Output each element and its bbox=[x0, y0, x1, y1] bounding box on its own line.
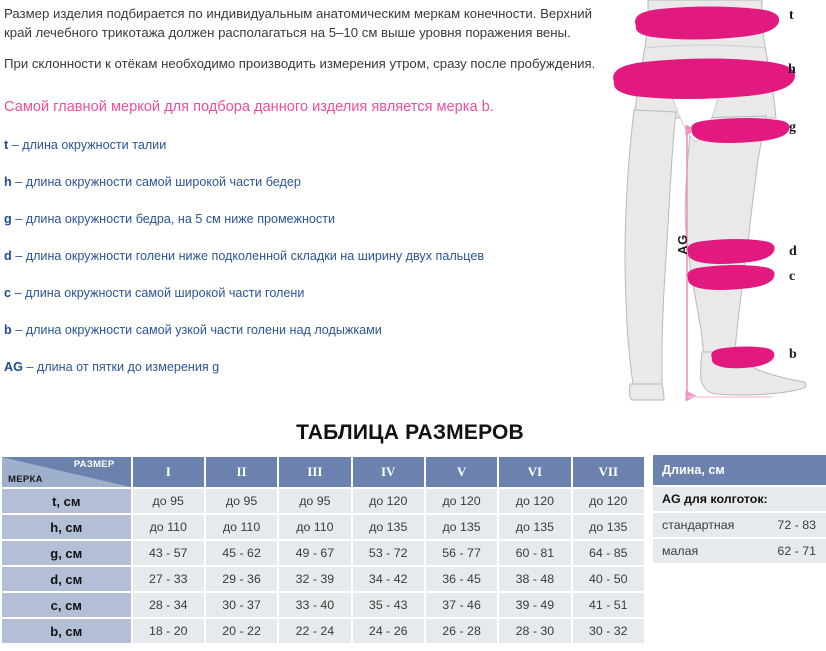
size-header-7: VII bbox=[573, 457, 644, 487]
definition-text-b: длина окружности самой узкой части голен… bbox=[26, 323, 382, 337]
cell-g-2: 45 - 62 bbox=[206, 541, 277, 565]
table-row: b, см 18 - 20 20 - 22 22 - 24 24 - 26 26… bbox=[2, 619, 644, 643]
table-row: t, см до 95 до 95 до 95 до 120 до 120 до… bbox=[2, 489, 644, 513]
size-table-title: ТАБЛИЦА РАЗМЕРОВ bbox=[0, 421, 820, 445]
figure-label-d: d bbox=[789, 244, 797, 260]
cell-h-7: до 135 bbox=[573, 515, 644, 539]
cell-d-3: 32 - 39 bbox=[279, 567, 350, 591]
definition-dash-c: – bbox=[15, 286, 22, 300]
marker-h bbox=[613, 59, 795, 100]
table-row: h, см до 110 до 110 до 110 до 135 до 135… bbox=[2, 515, 644, 539]
corner-measure-label: МЕРКА bbox=[8, 474, 43, 485]
cell-c-4: 35 - 43 bbox=[353, 593, 424, 617]
definition-text-c: длина окружности самой широкой части гол… bbox=[25, 286, 304, 300]
definition-dash-g: – bbox=[15, 212, 22, 226]
row-label-d: d, см bbox=[2, 567, 131, 591]
length-value-standard: 72 - 83 bbox=[777, 518, 816, 532]
definition-text-ag: длина от пятки до измерения g bbox=[37, 360, 219, 374]
cell-h-4: до 135 bbox=[353, 515, 424, 539]
cell-t-2: до 95 bbox=[206, 489, 277, 513]
definition-dash-ag: – bbox=[26, 360, 33, 374]
cell-h-5: до 135 bbox=[426, 515, 497, 539]
marker-g bbox=[691, 118, 789, 143]
cell-t-4: до 120 bbox=[353, 489, 424, 513]
marker-c bbox=[687, 265, 774, 290]
table-row: d, см 27 - 33 29 - 36 32 - 39 34 - 42 36… bbox=[2, 567, 644, 591]
size-table: РАЗМЕР МЕРКА I II III IV V VI VII t, см … bbox=[0, 455, 646, 645]
definition-dash-b: – bbox=[15, 323, 22, 337]
cell-c-2: 30 - 37 bbox=[206, 593, 277, 617]
cell-g-7: 64 - 85 bbox=[573, 541, 644, 565]
table-row: c, см 28 - 34 30 - 37 33 - 40 35 - 43 37… bbox=[2, 593, 644, 617]
row-label-t: t, см bbox=[2, 489, 131, 513]
size-header-2: II bbox=[206, 457, 277, 487]
size-header-5: V bbox=[426, 457, 497, 487]
cell-t-3: до 95 bbox=[279, 489, 350, 513]
definition-item-ag: AG – длина от пятки до измерения g bbox=[4, 359, 612, 375]
figure-label-c: c bbox=[789, 269, 795, 285]
cell-c-1: 28 - 34 bbox=[133, 593, 204, 617]
cell-b-5: 26 - 28 bbox=[426, 619, 497, 643]
marker-b bbox=[711, 347, 774, 369]
cell-d-2: 29 - 36 bbox=[206, 567, 277, 591]
cell-d-6: 38 - 48 bbox=[499, 567, 570, 591]
definition-key-b: b bbox=[4, 323, 12, 337]
cell-b-7: 30 - 32 bbox=[573, 619, 644, 643]
length-row-standard: стандартная 72 - 83 bbox=[653, 513, 826, 537]
cell-d-1: 27 - 33 bbox=[133, 567, 204, 591]
length-panel-subtitle: AG для колготок: bbox=[662, 492, 768, 506]
definition-key-c: c bbox=[4, 286, 11, 300]
definition-text-t: длина окружности талии bbox=[22, 138, 166, 152]
definition-key-t: t bbox=[4, 138, 8, 152]
definition-key-g: g bbox=[4, 212, 12, 226]
length-panel: Длина, см AG для колготок: стандартная 7… bbox=[653, 455, 826, 563]
size-header-4: IV bbox=[353, 457, 424, 487]
cell-t-6: до 120 bbox=[499, 489, 570, 513]
cell-g-4: 53 - 72 bbox=[353, 541, 424, 565]
marker-d bbox=[687, 239, 774, 264]
cell-g-3: 49 - 67 bbox=[279, 541, 350, 565]
cell-h-1: до 110 bbox=[133, 515, 204, 539]
definition-item-d: d – длина окружности голени ниже подколе… bbox=[4, 248, 612, 264]
cell-b-4: 24 - 26 bbox=[353, 619, 424, 643]
length-panel-header: Длина, см bbox=[653, 455, 826, 485]
definition-key-h: h bbox=[4, 175, 12, 189]
table-row: g, см 43 - 57 45 - 62 49 - 67 53 - 72 56… bbox=[2, 541, 644, 565]
size-table-head: РАЗМЕР МЕРКА I II III IV V VI VII bbox=[2, 457, 644, 487]
length-name-small: малая bbox=[662, 544, 777, 558]
row-label-g: g, см bbox=[2, 541, 131, 565]
definition-dash-t: – bbox=[12, 138, 19, 152]
intro-paragraph-1: Размер изделия подбирается по индивидуал… bbox=[4, 0, 612, 42]
cell-b-1: 18 - 20 bbox=[133, 619, 204, 643]
size-header-3: III bbox=[279, 457, 350, 487]
cell-h-2: до 110 bbox=[206, 515, 277, 539]
cell-c-3: 33 - 40 bbox=[279, 593, 350, 617]
cell-t-5: до 120 bbox=[426, 489, 497, 513]
size-header-1: I bbox=[133, 457, 204, 487]
length-row-small: малая 62 - 71 bbox=[653, 539, 826, 563]
cell-g-5: 56 - 77 bbox=[426, 541, 497, 565]
length-name-standard: стандартная bbox=[662, 518, 777, 532]
definition-item-t: t – длина окружности талии bbox=[4, 137, 612, 153]
highlight-note: Самой главной меркой для подбора данного… bbox=[4, 98, 612, 117]
intro-paragraph-2: При склонности к отёкам необходимо произ… bbox=[4, 42, 612, 73]
cell-h-3: до 110 bbox=[279, 515, 350, 539]
definition-item-c: c – длина окружности самой широкой части… bbox=[4, 285, 612, 301]
figure-label-t: t bbox=[789, 8, 794, 24]
definition-item-g: g – длина окружности бедра, на 5 см ниже… bbox=[4, 211, 612, 227]
definition-dash-h: – bbox=[15, 175, 22, 189]
row-label-h: h, см bbox=[2, 515, 131, 539]
cell-b-6: 28 - 30 bbox=[499, 619, 570, 643]
definition-key-ag: AG bbox=[4, 360, 23, 374]
row-label-b: b, см bbox=[2, 619, 131, 643]
figure-label-b: b bbox=[789, 347, 797, 363]
corner-size-label: РАЗМЕР bbox=[74, 459, 115, 470]
cell-h-6: до 135 bbox=[499, 515, 570, 539]
length-value-small: 62 - 71 bbox=[777, 544, 816, 558]
figure-label-h: h bbox=[788, 62, 796, 78]
definition-dash-d: – bbox=[15, 249, 22, 263]
cell-b-3: 22 - 24 bbox=[279, 619, 350, 643]
cell-b-2: 20 - 22 bbox=[206, 619, 277, 643]
cell-c-6: 39 - 49 bbox=[499, 593, 570, 617]
size-table-header-row: РАЗМЕР МЕРКА I II III IV V VI VII bbox=[2, 457, 644, 487]
cell-c-7: 41 - 51 bbox=[573, 593, 644, 617]
size-guide-page: Размер изделия подбирается по индивидуал… bbox=[0, 0, 826, 651]
cell-t-1: до 95 bbox=[133, 489, 204, 513]
row-label-c: c, см bbox=[2, 593, 131, 617]
definition-key-d: d bbox=[4, 249, 12, 263]
cell-d-4: 34 - 42 bbox=[353, 567, 424, 591]
length-panel-subtitle-row: AG для колготок: bbox=[653, 487, 826, 511]
definition-text-d: длина окружности голени ниже подколенной… bbox=[26, 249, 484, 263]
cell-c-5: 37 - 46 bbox=[426, 593, 497, 617]
measurement-definitions-list: t – длина окружности талии h – длина окр… bbox=[4, 137, 612, 375]
definition-item-h: h – длина окружности самой широкой части… bbox=[4, 174, 612, 190]
figure-label-g: g bbox=[789, 120, 796, 136]
cell-d-5: 36 - 45 bbox=[426, 567, 497, 591]
cell-g-6: 60 - 81 bbox=[499, 541, 570, 565]
definition-text-g: длина окружности бедра, на 5 см ниже про… bbox=[26, 212, 335, 226]
definition-text-h: длина окружности самой широкой части бед… bbox=[26, 175, 301, 189]
header-corner-cell: РАЗМЕР МЕРКА bbox=[2, 457, 131, 487]
size-table-body: t, см до 95 до 95 до 95 до 120 до 120 до… bbox=[2, 489, 644, 643]
cell-d-7: 40 - 50 bbox=[573, 567, 644, 591]
definition-item-b: b – длина окружности самой узкой части г… bbox=[4, 322, 612, 338]
cell-t-7: до 120 bbox=[573, 489, 644, 513]
cell-g-1: 43 - 57 bbox=[133, 541, 204, 565]
size-header-6: VI bbox=[499, 457, 570, 487]
intro-text-column: Размер изделия подбирается по индивидуал… bbox=[0, 0, 612, 396]
ag-measure-label: AG bbox=[675, 234, 690, 255]
